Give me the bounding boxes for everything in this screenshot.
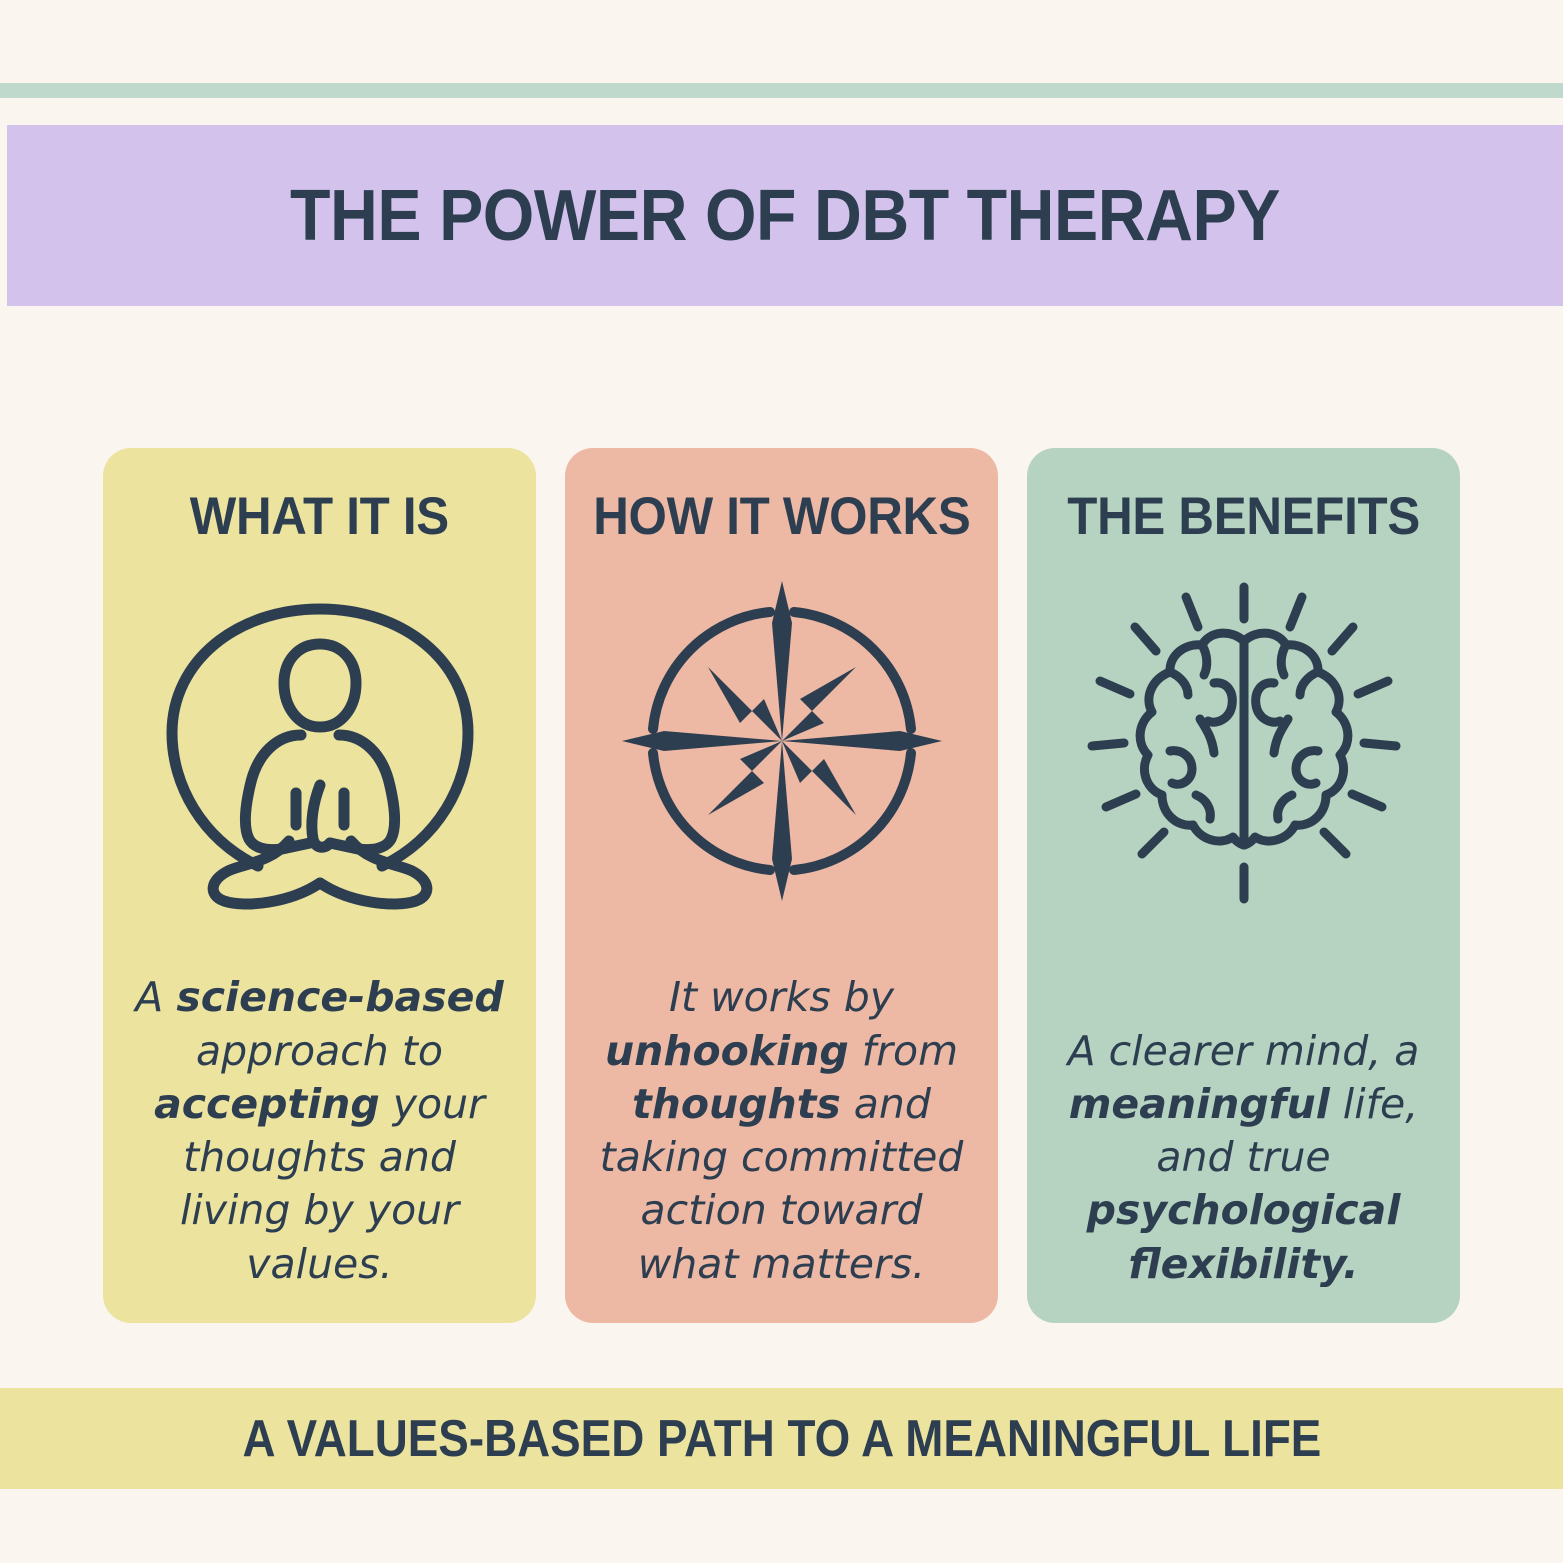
- radiant-brain-icon: [1074, 571, 1414, 911]
- footer-banner: A VALUES-BASED PATH TO A MEANINGFUL LIFE: [0, 1388, 1563, 1489]
- card-title: HOW IT WORKS: [593, 490, 970, 543]
- card-body: A science-based approach to accepting yo…: [125, 971, 514, 1297]
- card-body: A clearer mind, a meaningful life, and t…: [1049, 1025, 1438, 1297]
- card-what-it-is[interactable]: WHAT IT IS: [103, 448, 536, 1323]
- title-banner: THE POWER OF DBT THERAPY: [7, 125, 1563, 306]
- card-title: WHAT IT IS: [190, 490, 449, 543]
- compass-rose-icon: [612, 571, 952, 911]
- page-title: THE POWER OF DBT THERAPY: [290, 175, 1280, 257]
- cards-row: WHAT IT IS: [103, 448, 1460, 1323]
- footer-tagline: A VALUES-BASED PATH TO A MEANINGFUL LIFE: [242, 1409, 1321, 1469]
- top-accent-rule: [0, 83, 1563, 98]
- infographic-poster: THE POWER OF DBT THERAPY WHAT IT IS: [0, 0, 1563, 1563]
- meditating-person-icon: [150, 571, 490, 911]
- card-how-it-works[interactable]: HOW IT WORKS: [565, 448, 998, 1323]
- card-title: THE BENEFITS: [1067, 490, 1420, 543]
- card-body: It works by unhooking from thoughts and …: [587, 971, 976, 1297]
- card-the-benefits[interactable]: THE BENEFITS: [1027, 448, 1460, 1323]
